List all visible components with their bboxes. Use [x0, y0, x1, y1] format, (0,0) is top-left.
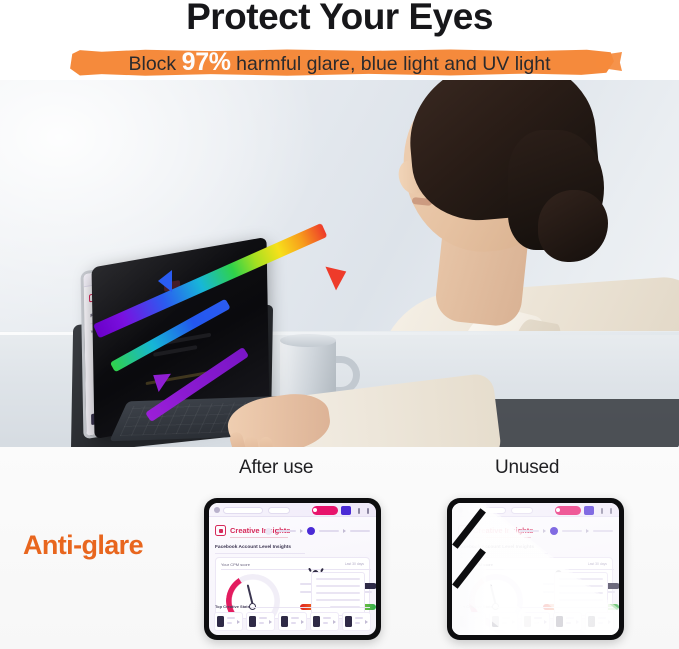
create-icon — [313, 508, 317, 512]
nav-item[interactable] — [319, 530, 339, 532]
nav-icon-active[interactable] — [550, 527, 558, 535]
search-input[interactable] — [466, 507, 506, 514]
cpm-panel: Your CPM score Last 30 days — [458, 557, 613, 619]
more-options-icon[interactable] — [358, 508, 360, 514]
chevron-right-icon — [301, 620, 304, 624]
panel-divider — [221, 569, 371, 570]
heading-divider — [458, 553, 548, 554]
stats-row — [214, 612, 371, 631]
panel-date-range[interactable]: Last 30 days — [588, 562, 607, 566]
stat-cell[interactable] — [278, 612, 307, 631]
feature-label-anti-glare: Anti-glare — [23, 530, 143, 561]
panel-divider — [464, 569, 614, 570]
product-marketing-page: Protect Your Eyes Block 97% harmful glar… — [0, 0, 679, 649]
card-line — [316, 578, 360, 580]
menu-icon[interactable] — [610, 508, 612, 514]
stat-icon — [556, 616, 563, 627]
card-line — [316, 592, 360, 594]
footer-heading: Top Creative Stats — [458, 604, 493, 609]
unused-screen: Creative Insights Facebook Account Level… — [452, 503, 619, 635]
footer-divider — [494, 607, 613, 608]
nav-item[interactable] — [350, 530, 370, 532]
card-line — [559, 585, 603, 587]
notifications-icon[interactable] — [584, 506, 594, 515]
reflected-upper-arrowhead — [158, 270, 172, 292]
subheadline-block: Block 97% harmful glare, blue light and … — [0, 46, 679, 80]
stat-icon — [460, 616, 467, 627]
cpm-panel: Your CPM score Last 30 days — [215, 557, 370, 619]
nav-icon[interactable] — [265, 528, 272, 535]
stat-cell[interactable] — [342, 612, 371, 631]
chevron-right-icon — [576, 620, 579, 624]
chevron-right-icon — [544, 620, 547, 624]
chevron-right-icon — [237, 620, 240, 624]
block-percentage: 97% — [182, 48, 231, 76]
stat-cell[interactable] — [489, 612, 518, 631]
card-line — [559, 599, 603, 601]
footer-heading: Top Creative Stats — [215, 604, 250, 609]
tablet-after-use: Creative Insights Facebook Account Level… — [204, 498, 381, 640]
nav-item[interactable] — [562, 530, 582, 532]
dashboard-nav — [265, 527, 370, 535]
brand-logo-icon — [215, 525, 226, 536]
tablet-unused: Creative Insights Facebook Account Level… — [447, 498, 624, 640]
label-after-use: After use — [239, 457, 313, 479]
section-heading: Facebook Account Level Insights — [215, 545, 291, 550]
card-line — [316, 599, 360, 601]
mug-rim — [280, 334, 336, 347]
nav-item[interactable] — [276, 530, 296, 532]
panel-title: Your CPM score — [221, 562, 250, 567]
card-line — [559, 578, 603, 580]
subheadline-prefix: Block — [128, 53, 181, 75]
dashboard-nav — [508, 527, 613, 535]
stat-icon — [345, 616, 352, 627]
nav-icon-active[interactable] — [307, 527, 315, 535]
chevron-right-icon — [608, 620, 611, 624]
subheadline: Block 97% harmful glare, blue light and … — [0, 46, 679, 81]
filter-dropdown[interactable] — [268, 507, 290, 514]
nav-item[interactable] — [593, 530, 613, 532]
account-avatar[interactable] — [457, 507, 463, 513]
stat-icon — [588, 616, 595, 627]
stats-row — [457, 612, 614, 631]
menu-icon[interactable] — [367, 508, 369, 514]
nav-icon[interactable] — [508, 528, 515, 535]
panel-title: Your CPM score — [464, 562, 493, 567]
label-unused: Unused — [495, 457, 559, 479]
person-hair-bun — [538, 190, 608, 262]
section-heading: Facebook Account Level Insights — [458, 545, 534, 550]
title-underline — [473, 537, 531, 538]
filter-dropdown[interactable] — [511, 507, 533, 514]
chevron-down-icon — [300, 529, 303, 533]
stat-icon — [313, 616, 320, 627]
footer-divider — [251, 607, 370, 608]
nav-item[interactable] — [519, 530, 539, 532]
stat-icon — [524, 616, 531, 627]
stat-icon — [249, 616, 256, 627]
page-title: Protect Your Eyes — [0, 0, 679, 38]
chevron-right-icon — [269, 620, 272, 624]
chevron-down-icon — [343, 529, 346, 533]
notifications-icon[interactable] — [341, 506, 351, 515]
card-line — [559, 592, 603, 594]
title-underline — [230, 537, 288, 538]
chevron-right-icon — [365, 620, 368, 624]
account-avatar[interactable] — [214, 507, 220, 513]
heading-divider — [215, 553, 305, 554]
chevron-right-icon — [333, 620, 336, 624]
stat-icon — [217, 616, 224, 627]
after-use-screen: Creative Insights Facebook Account Level… — [209, 503, 376, 635]
stat-icon — [492, 616, 499, 627]
stat-cell[interactable] — [214, 612, 243, 631]
stat-cell[interactable] — [585, 612, 614, 631]
search-input[interactable] — [223, 507, 263, 514]
more-options-icon[interactable] — [601, 508, 603, 514]
chevron-right-icon — [480, 620, 483, 624]
stat-cell[interactable] — [521, 612, 550, 631]
stat-cell[interactable] — [553, 612, 582, 631]
card-line — [316, 585, 360, 587]
stat-icon — [281, 616, 288, 627]
panel-date-range[interactable]: Last 30 days — [345, 562, 364, 566]
subheadline-suffix: harmful glare, blue light and UV light — [231, 53, 551, 75]
create-icon — [556, 508, 560, 512]
brand-logo-icon — [458, 525, 469, 536]
chevron-right-icon — [512, 620, 515, 624]
chevron-down-icon — [543, 529, 546, 533]
stat-cell[interactable] — [457, 612, 486, 631]
hero-photo: Creative Insights Facebook Account Level… — [0, 80, 679, 447]
stat-cell[interactable] — [310, 612, 339, 631]
stat-cell[interactable] — [246, 612, 275, 631]
chevron-down-icon — [586, 529, 589, 533]
